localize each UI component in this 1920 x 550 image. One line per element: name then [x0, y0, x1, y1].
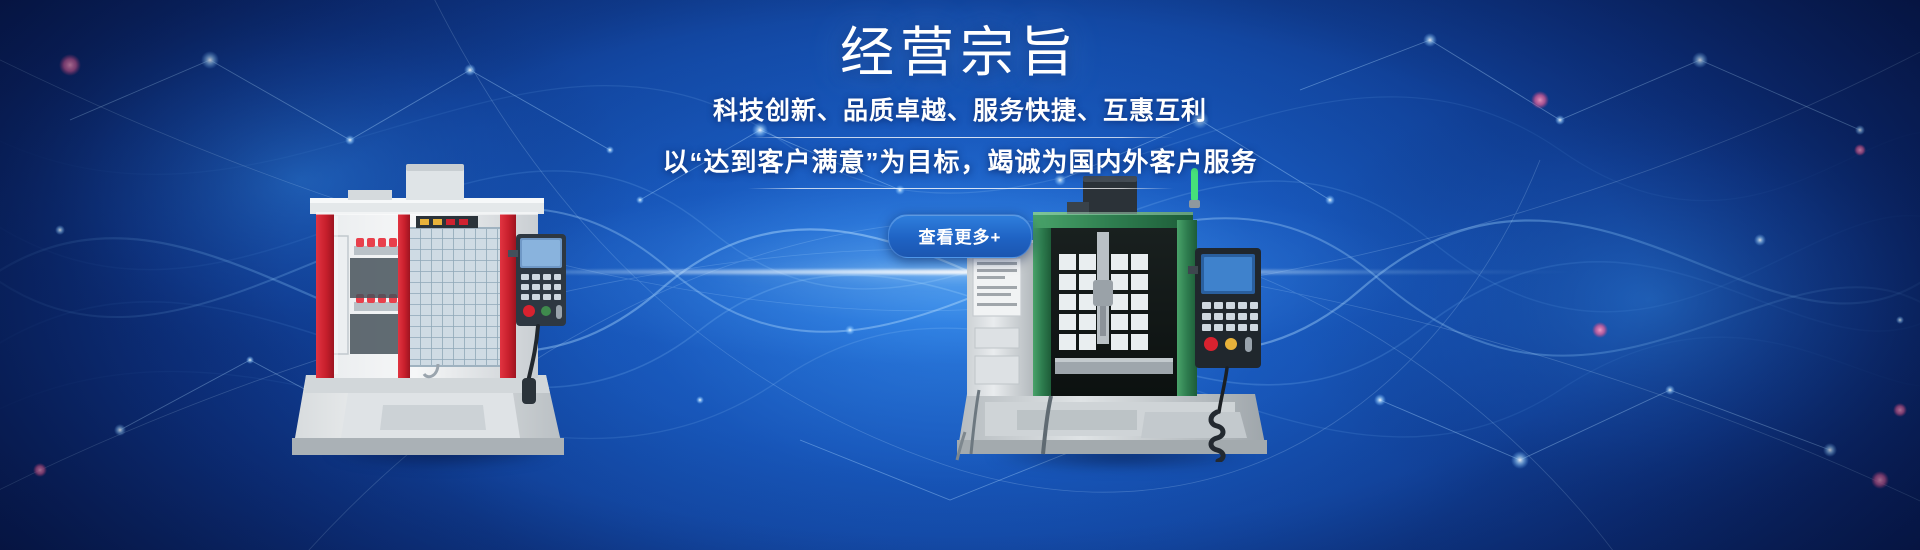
banner-copy-block: 经营宗旨 科技创新、品质卓越、服务快捷、互惠互利 以“达到客户满意”为目标，竭诚…: [0, 24, 1920, 258]
banner-subtitle: 科技创新、品质卓越、服务快捷、互惠互利: [0, 96, 1920, 127]
promo-banner: 经营宗旨 科技创新、品质卓越、服务快捷、互惠互利 以“达到客户满意”为目标，竭诚…: [0, 0, 1920, 550]
banner-tagline: 以“达到客户满意”为目标，竭诚为国内外客户服务: [0, 146, 1920, 180]
divider-bottom: [748, 188, 1173, 189]
page-title: 经营宗旨: [0, 24, 1920, 82]
divider-top: [748, 137, 1173, 138]
view-more-button[interactable]: 查看更多+: [888, 214, 1033, 258]
